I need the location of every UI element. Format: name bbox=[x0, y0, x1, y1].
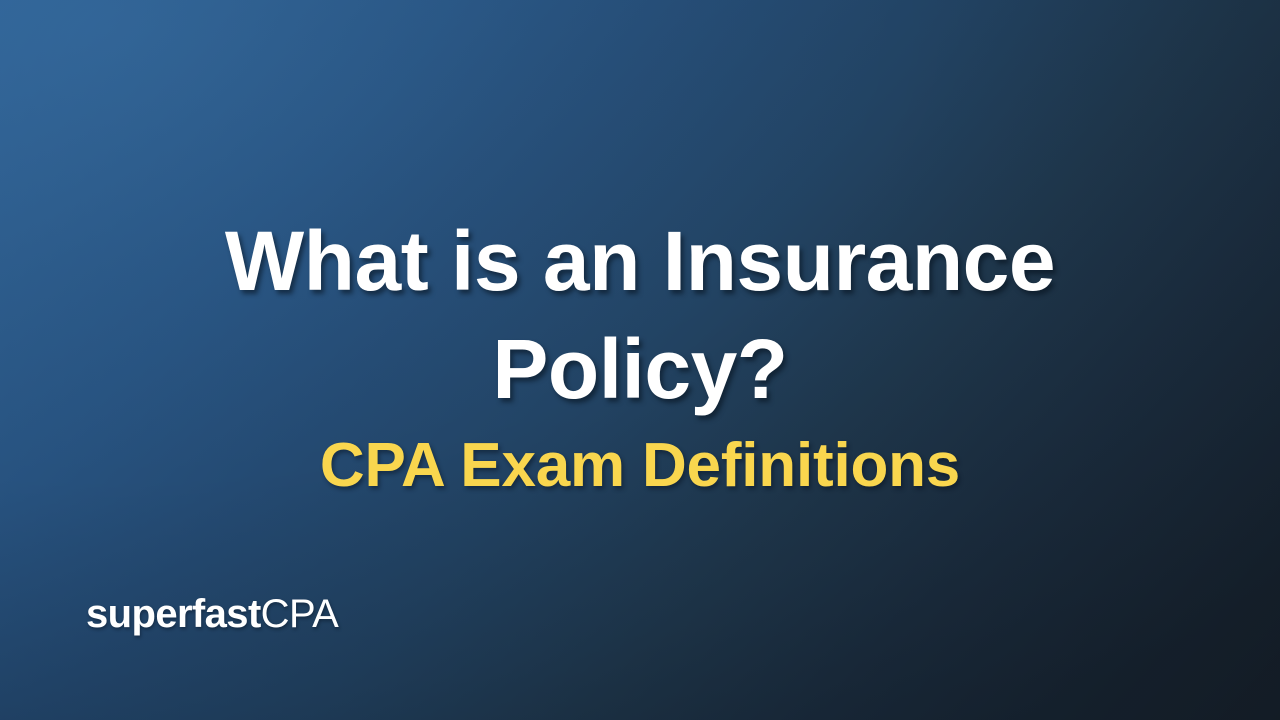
slide-content: What is an Insurance Policy? CPA Exam De… bbox=[0, 0, 1280, 720]
page-title: What is an Insurance Policy? bbox=[0, 208, 1280, 423]
brand-logo: superfast CPA bbox=[86, 594, 338, 634]
brand-logo-bold-text: superfast bbox=[86, 594, 261, 634]
title-slide: What is an Insurance Policy? CPA Exam De… bbox=[0, 0, 1280, 720]
subtitle: CPA Exam Definitions bbox=[0, 431, 1280, 500]
brand-logo-light-text: CPA bbox=[261, 594, 338, 634]
